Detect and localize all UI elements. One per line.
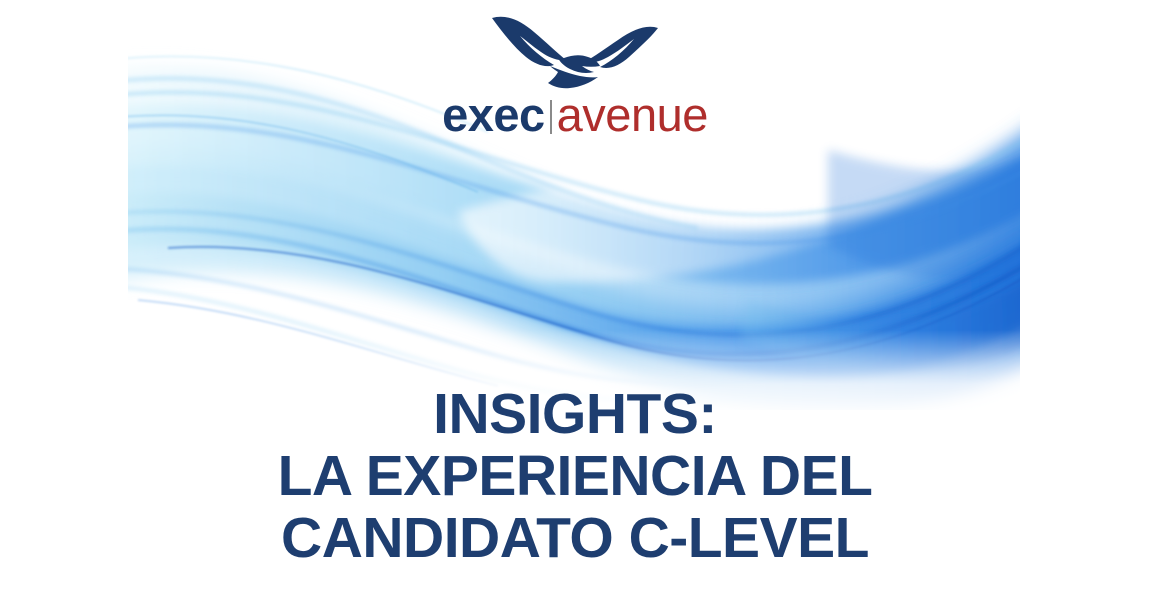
wordmark-avenue: avenue bbox=[557, 88, 708, 141]
wordmark-separator bbox=[550, 100, 552, 134]
slide-canvas: execavenue INSIGHTS: LA EXPERIENCIA DEL … bbox=[0, 0, 1150, 600]
brand-wordmark: execavenue bbox=[0, 91, 1150, 138]
title-line-3: CANDIDATO C-LEVEL bbox=[0, 507, 1150, 569]
title-line-1: INSIGHTS: bbox=[0, 383, 1150, 445]
brand-logo: execavenue bbox=[0, 12, 1150, 138]
wordmark-exec: exec bbox=[442, 88, 545, 141]
eagle-icon bbox=[490, 12, 660, 90]
title-line-2: LA EXPERIENCIA DEL bbox=[0, 445, 1150, 507]
page-title: INSIGHTS: LA EXPERIENCIA DEL CANDIDATO C… bbox=[0, 383, 1150, 569]
